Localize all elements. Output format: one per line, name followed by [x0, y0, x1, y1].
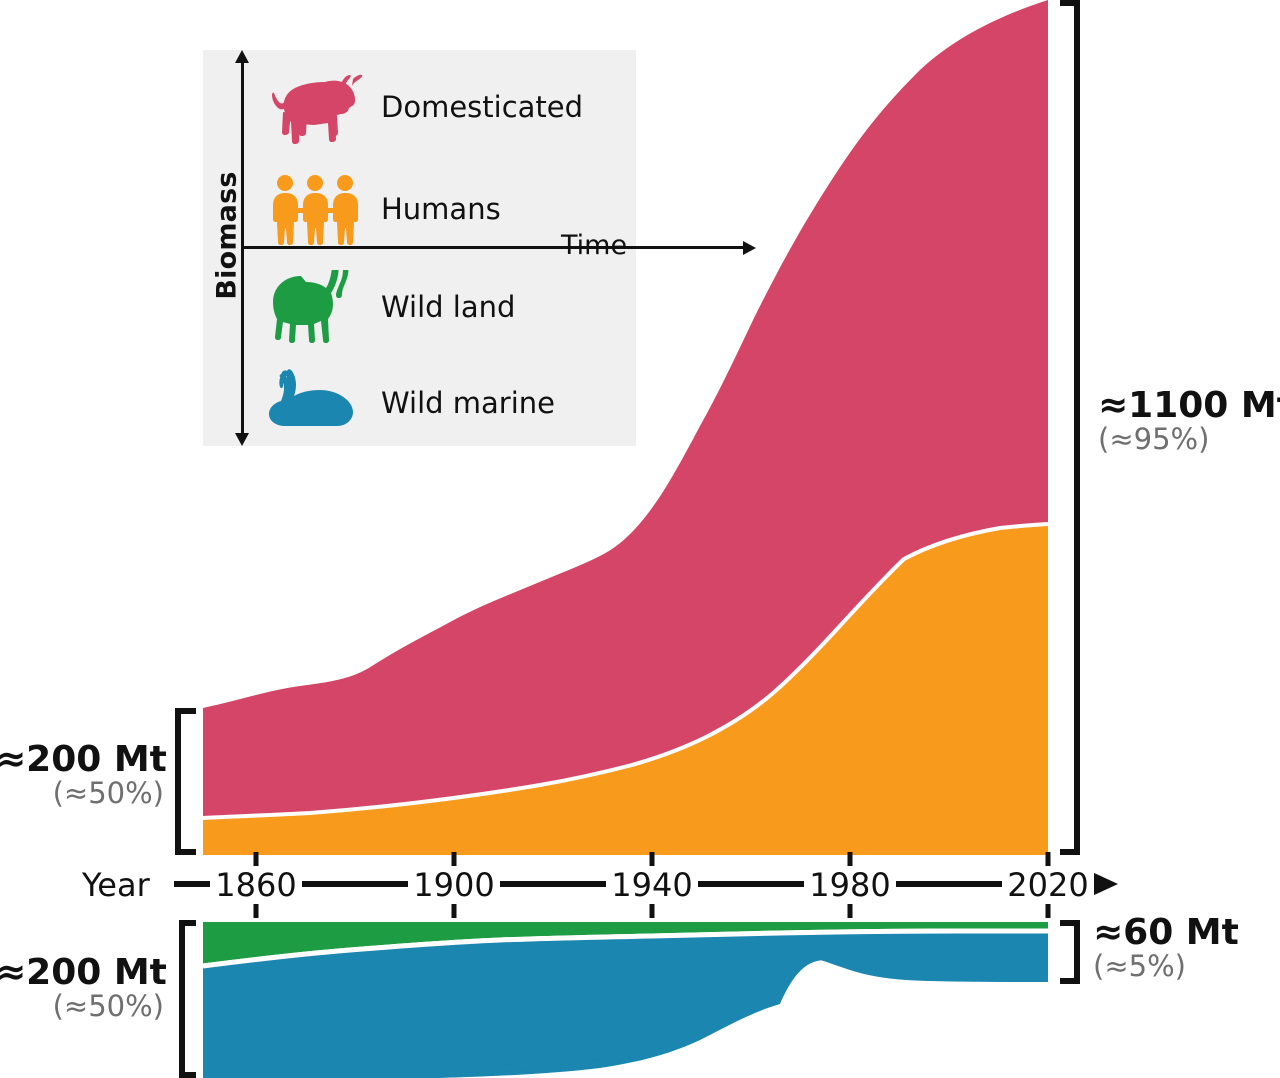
area-humans — [203, 524, 1048, 855]
annotation-left-top: ≈200 Mt (≈50%) — [0, 742, 164, 810]
year-axis-arrow-icon — [1092, 872, 1118, 896]
bracket-left-top — [178, 711, 196, 852]
year-tick-label-1860: 1860 — [215, 866, 296, 904]
annotation-right-top-value: ≈1100 Mt — [1098, 388, 1280, 424]
annotation-left-top-percent: (≈50%) — [0, 778, 164, 810]
area-wild-marine — [203, 931, 1048, 1078]
annotation-right-bottom-value: ≈60 Mt — [1093, 915, 1239, 951]
annotation-right-top-percent: (≈95%) — [1098, 424, 1280, 456]
annotation-left-bottom-value: ≈200 Mt — [0, 955, 164, 991]
year-tick-label-1980: 1980 — [809, 866, 890, 904]
people-icon — [261, 166, 369, 252]
legend-label-wild-marine: Wild marine — [381, 386, 555, 420]
year-axis-label: Year — [82, 866, 150, 904]
legend-x-axis-label: Time — [561, 230, 627, 261]
legend-label-humans: Humans — [381, 192, 501, 226]
separator-humans-domesticated — [203, 524, 1048, 818]
annotation-right-bottom: ≈60 Mt (≈5%) — [1093, 915, 1239, 983]
year-tick-label-1940: 1940 — [611, 866, 692, 904]
separator-wildland-wildmarine — [203, 931, 1048, 966]
year-tick-label-2020: 2020 — [1007, 866, 1088, 904]
separator-wildland-wildmarine-top — [203, 931, 1048, 966]
area-wild-land — [203, 922, 1048, 966]
legend-label-domesticated: Domesticated — [381, 90, 583, 124]
legend-label-wild-land: Wild land — [381, 290, 515, 324]
figure-root: Biomass Time Domesticated — [0, 0, 1280, 1078]
legend-y-axis-label: Biomass — [212, 171, 243, 301]
bottom-panel-overlay — [0, 0, 1280, 1078]
legend-item-wild-land[interactable]: Wild land — [261, 264, 515, 350]
legend-item-domesticated[interactable]: Domesticated — [261, 64, 583, 150]
annotation-left-bottom-percent: (≈50%) — [0, 991, 164, 1023]
legend-item-wild-marine[interactable]: Wild marine — [261, 360, 555, 446]
annotation-left-top-value: ≈200 Mt — [0, 742, 164, 778]
annotation-right-top: ≈1100 Mt (≈95%) — [1098, 388, 1280, 456]
bracket-right-top — [1060, 3, 1077, 852]
bracket-left-bottom — [182, 923, 196, 1075]
time-axis-arrow-icon — [743, 241, 756, 255]
annotation-right-bottom-percent: (≈5%) — [1093, 951, 1239, 983]
cow-icon — [261, 64, 369, 150]
elephant-icon — [261, 264, 369, 350]
whale-icon — [261, 360, 369, 446]
biomass-chart-graphics — [0, 0, 1280, 1078]
legend-item-humans[interactable]: Humans — [261, 166, 501, 252]
bottom-panel-areas — [203, 922, 1048, 1078]
annotation-left-bottom: ≈200 Mt (≈50%) — [0, 955, 164, 1023]
area-wild-marine-fill — [203, 931, 1048, 1078]
legend-panel: Biomass Time Domesticated — [203, 50, 636, 446]
year-tick-label-1900: 1900 — [413, 866, 494, 904]
biomass-axis-arrow-down-icon — [235, 433, 249, 446]
bracket-right-bottom — [1060, 923, 1077, 981]
